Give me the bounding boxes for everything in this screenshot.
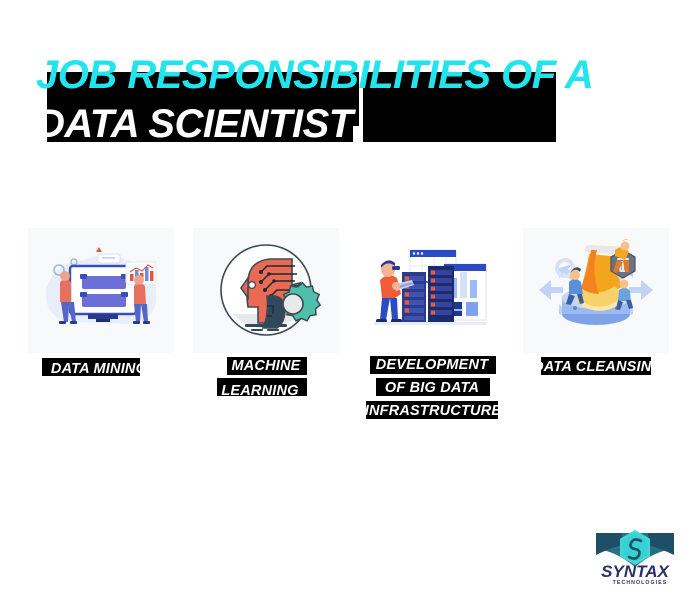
- card-label-data-cleansing: DATA CLEANSING: [523, 353, 669, 376]
- syntax-technologies-logo[interactable]: SYNTAX TECHNOLOGIES: [592, 527, 678, 589]
- card-label-big-data-infrastructure: DEVELOPMENT OF BIG DATA INFRASTRUCTURE: [358, 353, 504, 422]
- card-label-machine-learning: MACHINE LEARNING: [193, 353, 339, 399]
- data-mining-illustration: [28, 228, 174, 353]
- card-development-of-big-data-infrastructure[interactable]: DEVELOPMENT OF BIG DATA INFRASTRUCTURE: [358, 228, 504, 353]
- machine-learning-illustration: [193, 228, 339, 353]
- label-text: DATA MINING: [26, 360, 172, 378]
- label-text: INFRASTRUCTURE: [360, 402, 506, 420]
- page-title-line-1: JOB RESPONSIBILITIES OF A: [36, 55, 593, 95]
- card-machine-learning[interactable]: MACHINE LEARNING: [193, 228, 339, 353]
- label-text: DEVELOPMENT: [359, 356, 505, 374]
- card-data-mining[interactable]: DATA MINING: [28, 228, 174, 353]
- label-text: MACHINE: [193, 357, 339, 375]
- label-text: OF BIG DATA: [359, 379, 505, 397]
- big-data-infrastructure-illustration: [358, 228, 504, 353]
- card-label-data-mining: DATA MINING: [28, 353, 174, 376]
- logo-tagline: TECHNOLOGIES: [613, 580, 668, 586]
- page-title-block: JOB RESPONSIBILITIES OF A DATA SCIENTIST: [0, 0, 700, 200]
- label-text: LEARNING: [187, 382, 333, 400]
- page-title-line-2: DATA SCIENTIST: [36, 104, 353, 144]
- label-text: DATA CLEANSING: [525, 358, 671, 376]
- logo-wordmark: SYNTAX: [601, 562, 670, 581]
- card-data-cleansing[interactable]: DATA CLEANSING: [523, 228, 669, 353]
- responsibility-card-list: DATA MINING: [0, 228, 700, 418]
- data-cleansing-illustration: [523, 228, 669, 353]
